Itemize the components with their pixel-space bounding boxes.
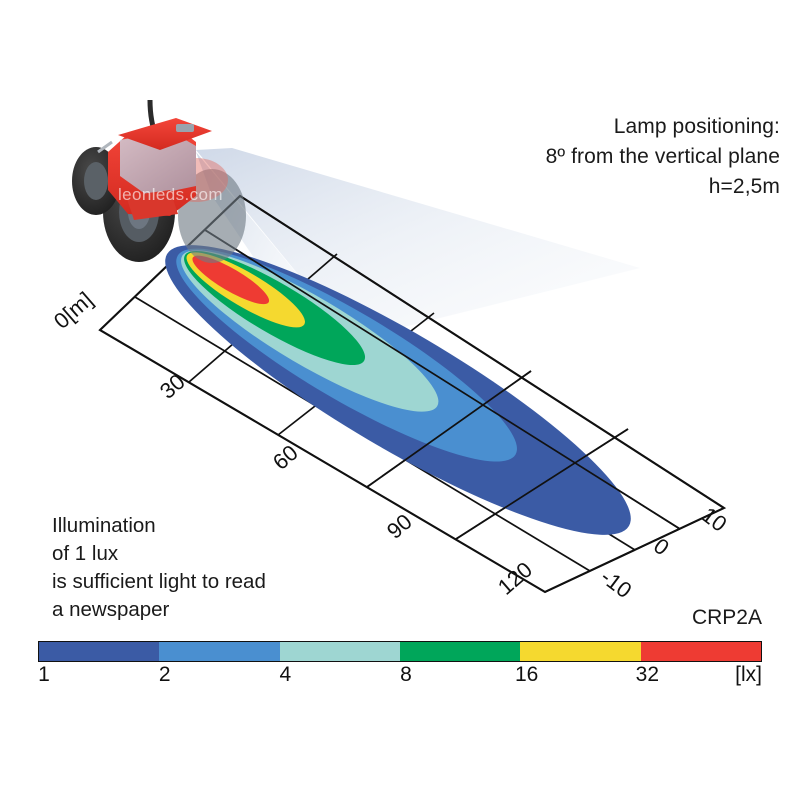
lux-colorbar-ticks: 12481632[lx]: [38, 663, 762, 691]
colorbar-tick-2: 2: [159, 663, 171, 687]
colorbar-segment-1: [39, 642, 159, 661]
colorbar-tick-16: 16: [515, 663, 538, 687]
axis-tick-neg10: -10: [596, 564, 636, 603]
annotation-angle: 8º from the vertical plane: [546, 142, 780, 172]
colorbar-tick-8: 8: [400, 663, 412, 687]
note-line-1: Illumination: [52, 512, 266, 540]
colorbar-tick-32: 32: [636, 663, 659, 687]
axis-tick-120: 120: [493, 557, 537, 600]
colorbar-tick-1: 1: [38, 663, 50, 687]
axis-tick-10: 10: [697, 502, 732, 537]
colorbar-segment-2: [159, 642, 279, 661]
note-line-3: is sufficient light to read: [52, 568, 266, 596]
colorbar-segment-16: [520, 642, 640, 661]
colorbar-segment-8: [400, 642, 520, 661]
colorbar-tick-4: 4: [279, 663, 291, 687]
annotation-height: h=2,5m: [546, 172, 780, 202]
colorbar-segment-32: [641, 642, 761, 661]
note-line-2: of 1 lux: [52, 540, 266, 568]
axis-tick-30: 30: [155, 369, 190, 404]
annotation-title: Lamp positioning:: [546, 112, 780, 142]
lux-colorbar-legend: 12481632[lx]: [38, 641, 762, 691]
colorbar-unit-label: [lx]: [735, 663, 762, 687]
lux-colorbar: [38, 641, 762, 662]
tractor-lamp: [176, 124, 194, 132]
lamp-positioning-annotation: Lamp positioning: 8º from the vertical p…: [546, 112, 780, 201]
product-model-label: CRP2A: [692, 606, 762, 630]
tractor-illustration: [72, 100, 246, 263]
illumination-note: Illumination of 1 lux is sufficient ligh…: [52, 512, 266, 624]
note-line-4: a newspaper: [52, 596, 266, 624]
colorbar-segment-4: [280, 642, 400, 661]
axis-tick-0m: 0[m]: [49, 287, 98, 334]
axis-tick-0: 0: [649, 533, 674, 560]
illumination-diagram-page: 0[m] 30 60 90 120 10 0 -10: [0, 0, 800, 800]
